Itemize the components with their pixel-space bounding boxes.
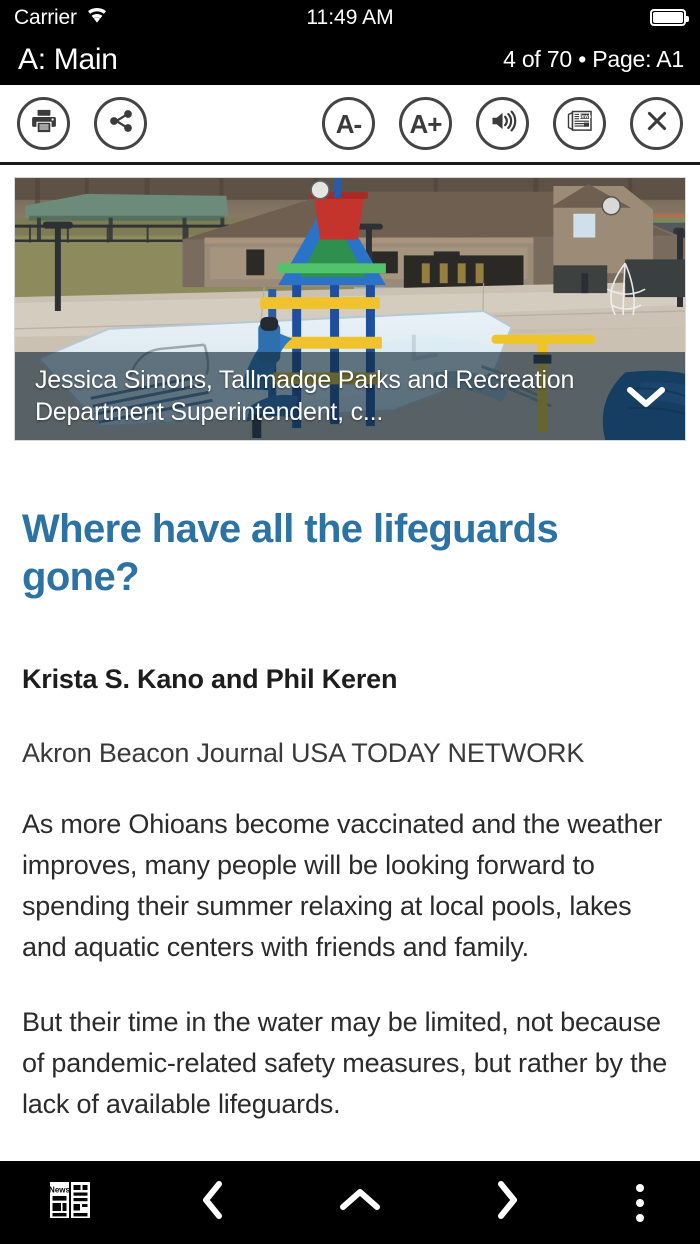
- decrease-text-size-button[interactable]: A-: [322, 97, 375, 150]
- article-scroll-area[interactable]: Jessica Simons, Tallmadge Parks and Recr…: [0, 165, 700, 1158]
- close-icon: [643, 107, 671, 140]
- speaker-icon: [489, 107, 517, 140]
- scroll-up-button[interactable]: [287, 1161, 434, 1244]
- article-photo[interactable]: Jessica Simons, Tallmadge Parks and Recr…: [14, 177, 686, 441]
- title-bar: A: Main 4 of 70 • Page: A1: [0, 34, 700, 85]
- article-headline: Where have all the lifeguards gone?: [22, 505, 678, 601]
- photo-caption: Jessica Simons, Tallmadge Parks and Recr…: [35, 364, 615, 428]
- share-button[interactable]: [94, 97, 147, 150]
- text-decrease-icon: A-: [336, 111, 361, 137]
- read-aloud-button[interactable]: [476, 97, 529, 150]
- section-title: A: Main: [18, 45, 118, 75]
- newspaper-icon: News: [565, 106, 595, 141]
- article-toolbar: A- A+: [0, 85, 700, 165]
- status-bar-left: Carrier: [14, 6, 109, 29]
- carrier-label: Carrier: [14, 7, 77, 28]
- status-bar-right: [650, 9, 686, 26]
- article-paragraph: As more Ohioans become vaccinated and th…: [22, 804, 678, 968]
- newspaper-reader-app: Carrier 11:49 AM A: Main 4 of 70 • Page:…: [0, 0, 700, 1244]
- print-button[interactable]: [17, 97, 70, 150]
- printer-icon: [30, 107, 58, 140]
- text-increase-icon: A+: [410, 111, 442, 137]
- battery-icon: [650, 9, 686, 26]
- chevron-up-icon: [338, 1186, 382, 1219]
- chevron-left-icon: [199, 1179, 227, 1226]
- previous-page-button[interactable]: [140, 1161, 287, 1244]
- kebab-menu-icon: [636, 1184, 644, 1222]
- newspaper-icon: News: [43, 1173, 97, 1232]
- svg-text:News: News: [578, 114, 591, 120]
- svg-text:News: News: [49, 1186, 70, 1195]
- next-page-button[interactable]: [433, 1161, 580, 1244]
- wifi-icon: [85, 6, 109, 29]
- bottom-newspaper-button[interactable]: News: [0, 1161, 140, 1244]
- bottom-navigation-bar: News: [0, 1158, 700, 1244]
- close-button[interactable]: [630, 97, 683, 150]
- toolbar-right-group: A- A+: [322, 97, 700, 150]
- more-options-button[interactable]: [580, 1161, 700, 1244]
- chevron-down-icon[interactable]: [615, 381, 677, 411]
- chevron-right-icon: [493, 1179, 521, 1226]
- photo-caption-bar[interactable]: Jessica Simons, Tallmadge Parks and Recr…: [15, 352, 685, 440]
- status-bar: Carrier 11:49 AM: [0, 0, 700, 34]
- increase-text-size-button[interactable]: A+: [399, 97, 452, 150]
- share-icon: [107, 107, 135, 140]
- article-source: Akron Beacon Journal USA TODAY NETWORK: [22, 737, 678, 769]
- newspaper-view-button[interactable]: News: [553, 97, 606, 150]
- article-byline: Krista S. Kano and Phil Keren: [22, 663, 678, 695]
- article-body: Where have all the lifeguards gone? Kris…: [0, 505, 700, 1125]
- page-indicator: 4 of 70 • Page: A1: [503, 48, 684, 71]
- article-paragraph: But their time in the water may be limit…: [22, 1002, 678, 1125]
- toolbar-left-group: [0, 97, 147, 150]
